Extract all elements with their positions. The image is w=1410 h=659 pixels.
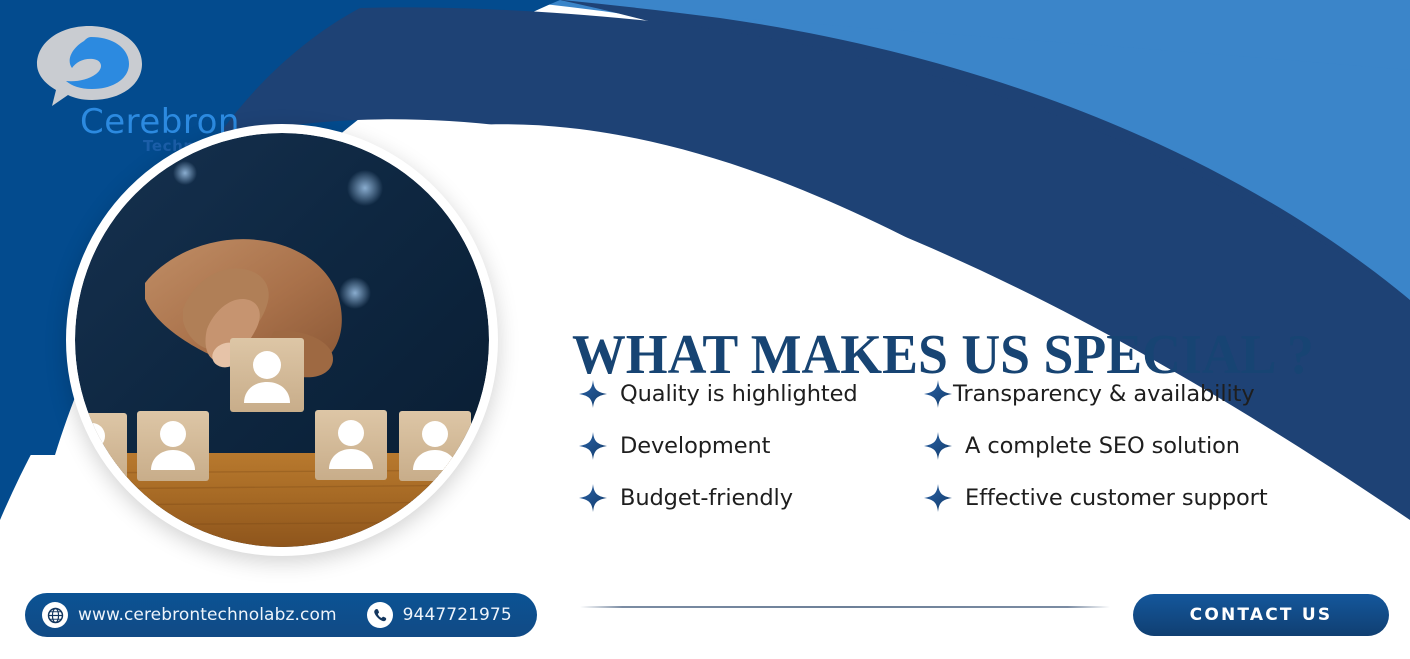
list-item-label: Effective customer support bbox=[965, 485, 1268, 511]
list-item-label: Quality is highlighted bbox=[620, 381, 858, 407]
feature-column-left: Quality is highlighted Development Budge… bbox=[578, 368, 918, 524]
list-item-label: Transparency & availability bbox=[953, 381, 1255, 407]
list-item-label: Development bbox=[620, 433, 770, 459]
list-item-label: Budget-friendly bbox=[620, 485, 793, 511]
list-item: Effective customer support bbox=[923, 472, 1283, 524]
footer-divider bbox=[580, 606, 1110, 608]
raised-block bbox=[230, 338, 304, 412]
list-item: Quality is highlighted bbox=[578, 368, 918, 420]
contact-info-bar: www.cerebrontechnolabz.com 9447721975 bbox=[25, 593, 537, 637]
website-link[interactable]: www.cerebrontechnolabz.com bbox=[42, 602, 337, 628]
promo-banner: Cerebron Technolabz bbox=[0, 0, 1410, 659]
sparkle-icon bbox=[578, 431, 608, 461]
list-item: A complete SEO solution bbox=[923, 420, 1283, 472]
list-item: Development bbox=[578, 420, 918, 472]
list-item-label: A complete SEO solution bbox=[965, 433, 1240, 459]
phone-icon bbox=[367, 602, 393, 628]
globe-icon bbox=[42, 602, 68, 628]
sparkle-icon bbox=[578, 379, 608, 409]
phone-text: 9447721975 bbox=[403, 605, 512, 625]
hero-photo bbox=[66, 124, 498, 556]
sparkle-icon bbox=[578, 483, 608, 513]
hero-photo-image bbox=[75, 133, 489, 547]
brain-speech-bubble-logo-icon bbox=[32, 24, 146, 108]
sparkle-icon bbox=[923, 379, 953, 409]
contact-us-button[interactable]: CONTACT US bbox=[1133, 594, 1389, 636]
feature-column-right: Transparency & availability A complete S… bbox=[923, 368, 1283, 524]
sparkle-icon bbox=[923, 483, 953, 513]
sparkle-icon bbox=[923, 431, 953, 461]
phone-link[interactable]: 9447721975 bbox=[367, 602, 512, 628]
brand-logo[interactable]: Cerebron Technolabz bbox=[26, 24, 236, 136]
website-text: www.cerebrontechnolabz.com bbox=[78, 605, 337, 625]
list-item: Transparency & availability bbox=[923, 368, 1283, 420]
list-item: Budget-friendly bbox=[578, 472, 918, 524]
